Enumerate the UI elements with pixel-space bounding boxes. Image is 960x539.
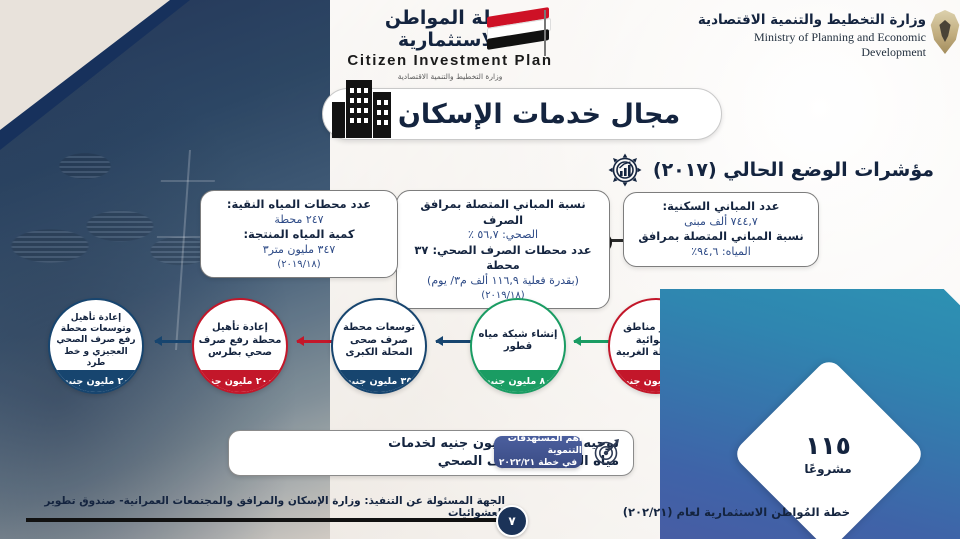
project-circle-qutour-water-network[interactable]: إنشاء شبكة مياه قطور ٨٠ مليون جنيه <box>470 298 566 394</box>
indicator-key-1: نسبة المباني المتصلة بمرافق الصرف <box>405 197 601 228</box>
indicator-year: (٢٠١٩/١٨) <box>209 258 389 271</box>
target-badge-line1: أهم المستهدفات التنموية <box>494 434 582 457</box>
indicator-box-residential-buildings: عدد المباني السكنية: ٧٤٤,٧ ألف مبنى نسبة… <box>623 192 819 267</box>
development-target-badge: أهم المستهدفات التنموية في خطة ٢٠٢٢/٢١ <box>494 436 582 468</box>
building-icon <box>332 78 394 138</box>
indicator-value-2: المياه: ٩٤,٦٪ <box>632 245 810 260</box>
indicator-key-1: عدد المباني السكنية: <box>632 199 810 215</box>
indicator-box-sanitation-connection: نسبة المباني المتصلة بمرافق الصرف الصحي:… <box>396 190 610 309</box>
indicator-value-1: ٧٤٤,٧ ألف مبنى <box>632 215 810 230</box>
plan-title-english: Citizen Investment Plan <box>330 52 570 70</box>
target-arrow-icon <box>592 437 622 467</box>
indicator-value-2: ٣٤٧ مليون متر٣ <box>209 243 389 258</box>
infographic-page: خطة المواطن الاستثمارية Citizen Investme… <box>0 0 960 539</box>
project-title: إعادة تأهيل وتوسعات محطة رفع صرف الصحي ا… <box>54 312 138 370</box>
indicator-key-2: نسبة المباني المتصلة بمرافق <box>632 229 810 245</box>
project-amount: ٢٠ مليون جنيه <box>50 370 142 392</box>
arrow-connector-4 <box>297 340 333 343</box>
project-title: توسعات محطة صرف صحى المحلة الكبرى <box>337 312 421 370</box>
project-circle-mahalla-sanitation[interactable]: توسعات محطة صرف صحى المحلة الكبرى ٣٥ ملي… <box>331 298 427 394</box>
page-header: خطة المواطن الاستثمارية Citizen Investme… <box>0 0 960 78</box>
indicator-value-2: (بقدرة فعلية ١١٦,٩ ألف م٣/ يوم) <box>405 274 601 289</box>
arrow-connector-2 <box>574 340 610 343</box>
indicator-key-2: عدد محطات الصرف الصحي: ٣٧ محطة <box>405 243 601 274</box>
arrow-connector-3 <box>436 340 472 343</box>
project-circle-botros-pump-station[interactable]: إعادة تأهيل محطة رفع صرف صحي بطرس ٢٠٠١ م… <box>192 298 288 394</box>
indicator-key-2: كمية المياه المنتجة: <box>209 227 389 243</box>
target-badge-line2: في خطة ٢٠٢٢/٢١ <box>499 458 577 470</box>
ministry-name-english-line1: Ministry of Planning and Economic <box>626 30 926 45</box>
project-title: إنشاء شبكة مياه قطور <box>476 312 560 370</box>
indicators-heading-text: مؤشرات الوضع الحالي (٢٠١٧) <box>653 159 934 181</box>
project-amount: ٨٠ مليون جنيه <box>472 370 564 392</box>
ministry-name-english-line2: Development <box>626 45 926 60</box>
indicator-box-water-stations: عدد محطات المياه النقية: ٢٤٧ محطة كمية ا… <box>200 190 398 278</box>
project-title: إعادة تأهيل محطة رفع صرف صحي بطرس <box>198 312 282 370</box>
project-amount: ٢٠٠١ مليون جنيه <box>194 370 286 392</box>
project-count-badge: ١١٥ مشروعًا <box>778 403 878 503</box>
footer-responsible-entity: الجهة المسئولة عن التنفيذ: وزارة الإسكان… <box>25 495 505 519</box>
project-count-number: ١١٥ <box>805 431 851 460</box>
project-count-label: مشروعًا <box>804 462 851 476</box>
project-amount: ٣٥ مليون جنيه <box>333 370 425 392</box>
indicator-value-1: الصحي: ٥٦,٧ ٪ <box>405 228 601 243</box>
ministry-name-arabic: وزارة التخطيط والتنمية الاقتصادية <box>626 12 926 30</box>
indicator-key-1: عدد محطات المياه النقية: <box>209 197 389 213</box>
egypt-flag-icon <box>487 10 549 52</box>
ministry-logo: وزارة التخطيط والتنمية الاقتصادية Minist… <box>626 12 926 60</box>
footer-plan-label: خطة المُواطن الاستثمارية لعام (٢٠٢/٢١) <box>623 505 850 519</box>
page-number-badge: ٧ <box>496 505 528 537</box>
project-circle-egeizy-pump-station[interactable]: إعادة تأهيل وتوسعات محطة رفع صرف الصحي ا… <box>48 298 144 394</box>
section-indicators-heading: مؤشرات الوضع الحالي (٢٠١٧) <box>605 150 934 190</box>
arrow-connector-5 <box>155 340 191 343</box>
egypt-eagle-emblem-icon <box>928 10 960 54</box>
indicator-value-1: ٢٤٧ محطة <box>209 213 389 228</box>
gear-chart-icon <box>605 150 645 190</box>
